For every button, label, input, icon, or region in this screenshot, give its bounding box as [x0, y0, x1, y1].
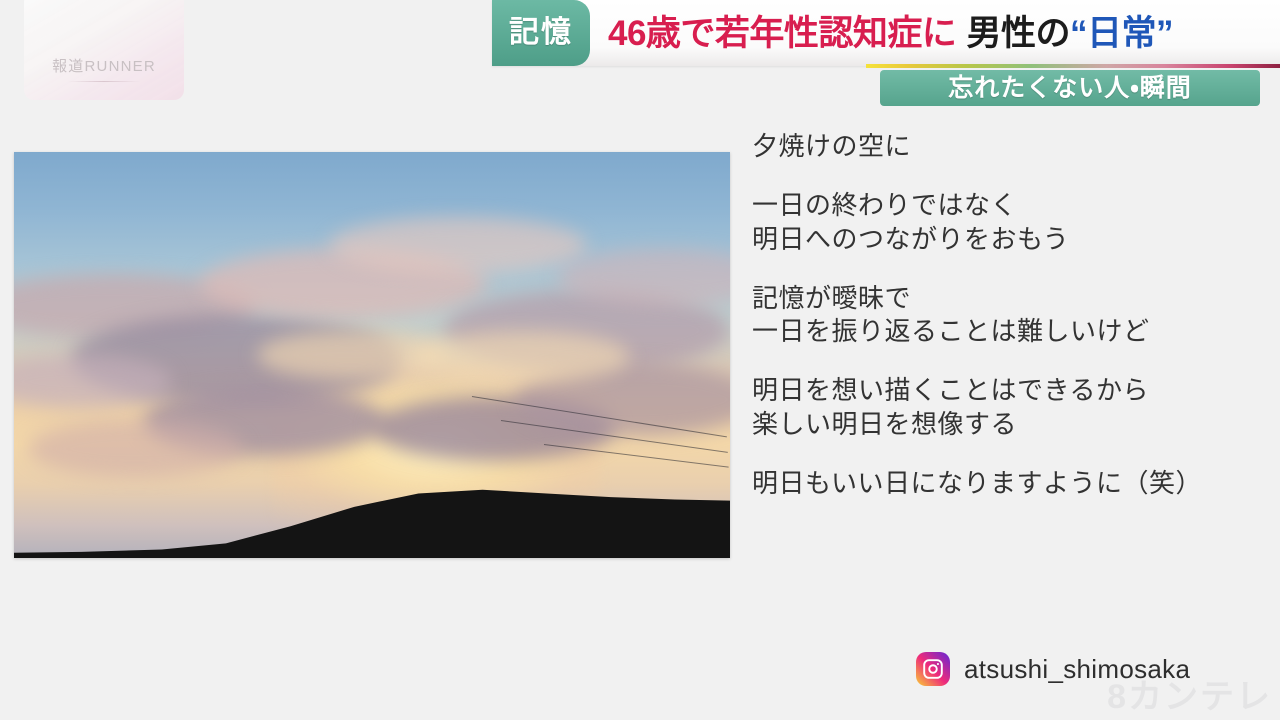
poem-stanza: 明日を想い描くことはできるから 楽しい明日を想像する	[752, 374, 1262, 441]
poem-line: 明日を想い描くことはできるから	[752, 374, 1262, 407]
poem-line: 楽しい明日を想像する	[752, 408, 1262, 441]
station-logo-rule	[68, 81, 140, 82]
instagram-icon	[916, 652, 950, 686]
station-logo-watermark: 報道RUNNER	[24, 0, 184, 100]
photo-cloud	[28, 420, 243, 477]
poem-line: 明日もいい日になりますように（笑）	[752, 467, 1262, 500]
category-tag: 記憶	[492, 0, 590, 66]
poem-line: 一日を振り返ることは難しいけど	[752, 315, 1262, 348]
broadcaster-watermark: 8カンテレ	[1107, 669, 1272, 718]
headline-part-red: 46歳で若年性認知症に	[608, 16, 956, 51]
headline-text: 46歳で若年性認知症に 男性の “日常”	[590, 16, 1280, 51]
poem-line: 明日へのつながりをおもう	[752, 223, 1262, 256]
poem-stanza: 記憶が曖昧で 一日を振り返ることは難しいけど	[752, 282, 1262, 349]
station-logo-label: 報道RUNNER	[52, 55, 156, 76]
headline-part-black: 男性の	[966, 16, 1070, 51]
photo-cloud	[329, 217, 587, 274]
poem-stanza: 明日もいい日になりますように（笑）	[752, 467, 1262, 500]
poem-stanza: 夕焼けの空に	[752, 130, 1262, 163]
subtitle-label: 忘れたくない人・瞬間	[948, 76, 1192, 101]
headline-gradient-rule	[866, 64, 1280, 68]
photo-cloud	[415, 331, 630, 384]
poem-line: 記憶が曖昧で	[752, 282, 1262, 315]
subtitle-bar: 忘れたくない人・瞬間	[880, 70, 1260, 106]
poem-line: 一日の終わりではなく	[752, 189, 1262, 222]
poem-text: 夕焼けの空に 一日の終わりではなく 明日へのつながりをおもう 記憶が曖昧で 一日…	[752, 130, 1262, 500]
poem-stanza: 一日の終わりではなく 明日へのつながりをおもう	[752, 189, 1262, 256]
category-tag-label: 記憶	[509, 18, 573, 48]
headline-part-blue: “日常”	[1070, 16, 1173, 51]
sunset-photo	[14, 152, 730, 558]
poem-line: 夕焼けの空に	[752, 130, 1262, 163]
headline-banner: 記憶 46歳で若年性認知症に 男性の “日常”	[492, 0, 1280, 66]
